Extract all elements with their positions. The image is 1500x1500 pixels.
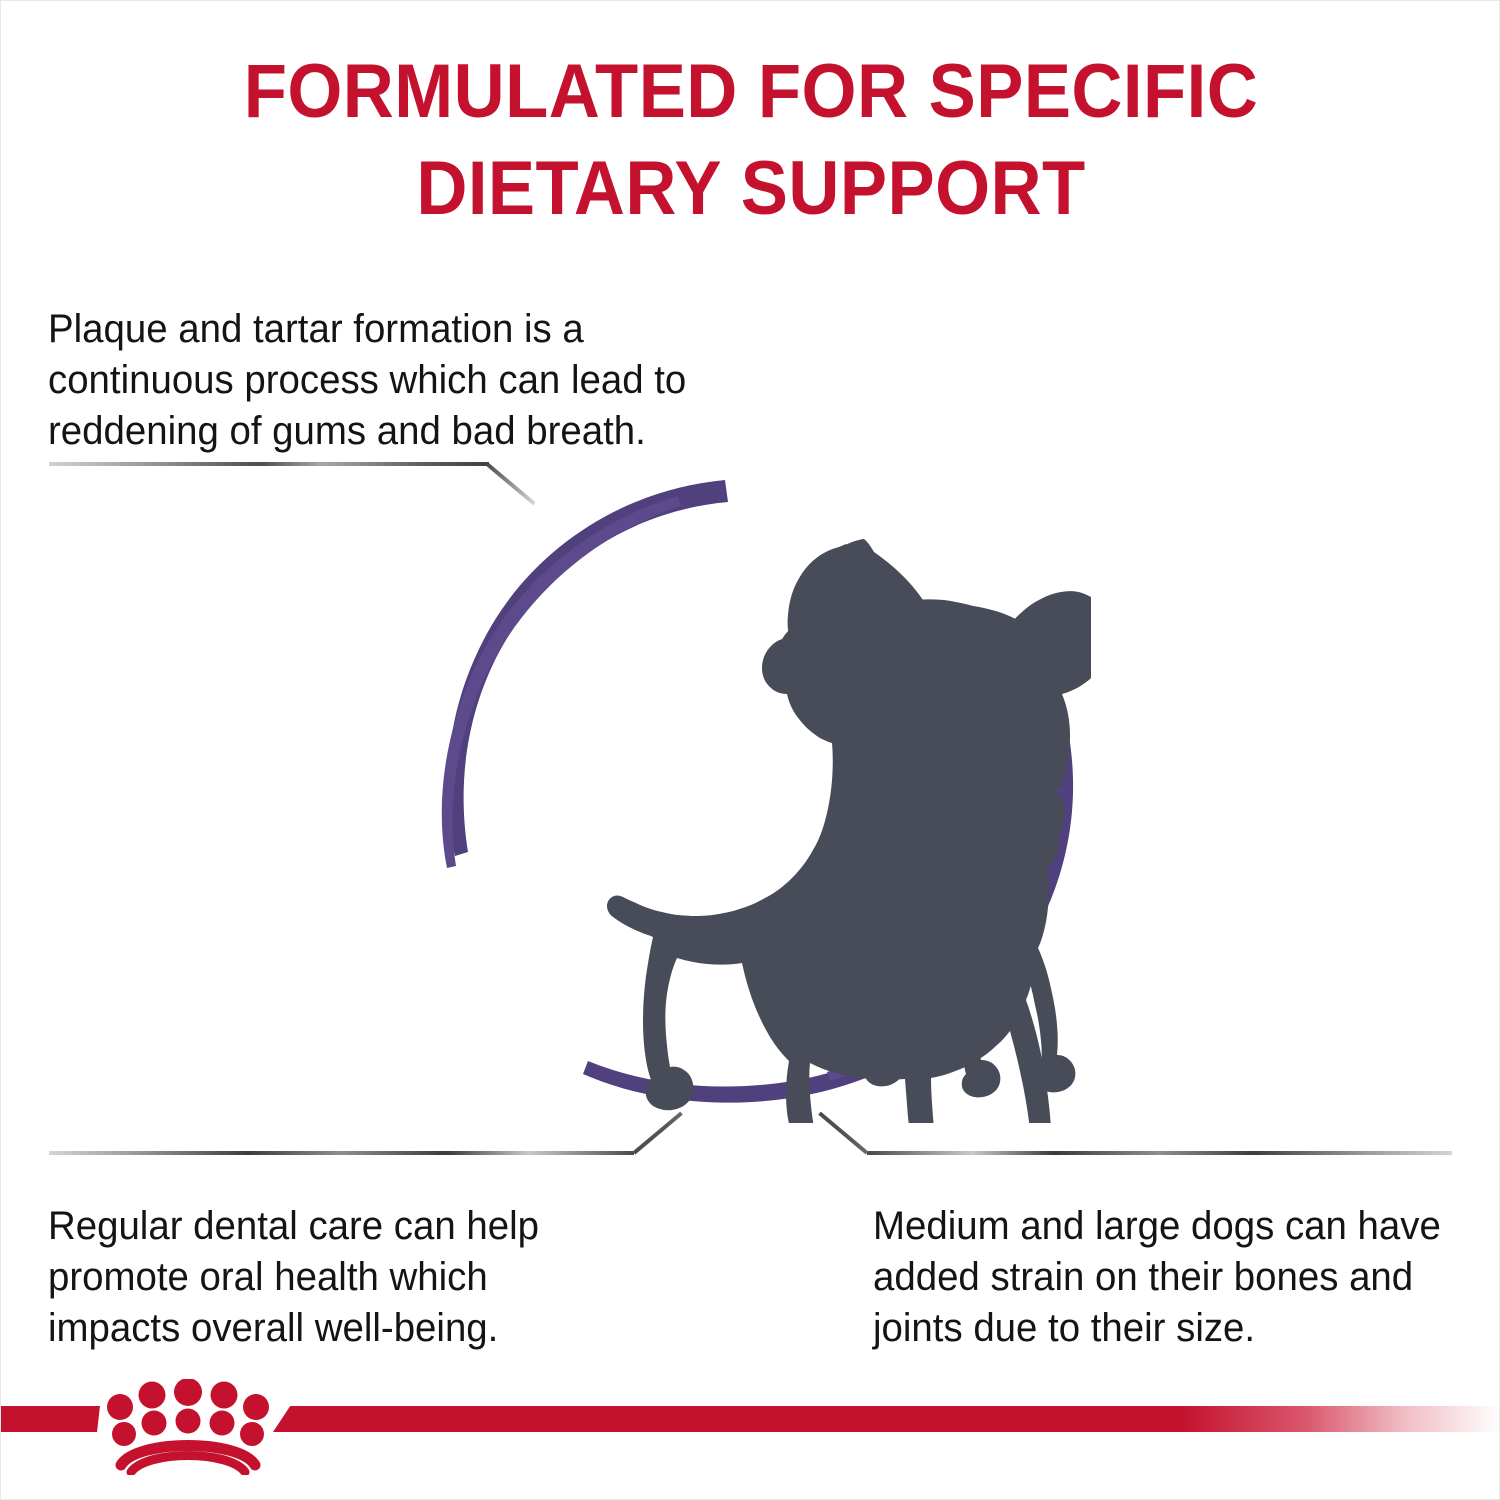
crown-dot (211, 1382, 238, 1409)
dog-silhouette-detail (607, 544, 1091, 1123)
crown-arc-inner (131, 1456, 245, 1473)
crown-dot (174, 1379, 202, 1406)
brand-bar-right-segment (273, 1406, 1500, 1432)
leader-line-bottom-left-horizontal (49, 1151, 634, 1155)
leader-line-bottom-right-horizontal (867, 1151, 1452, 1155)
callout-text-top-left: Plaque and tartar formation is a continu… (48, 304, 739, 458)
headline-line-2: DIETARY SUPPORT (54, 140, 1449, 237)
crown-dot (210, 1411, 235, 1436)
infographic-canvas: FORMULATED FOR SPECIFIC DIETARY SUPPORT … (0, 0, 1500, 1500)
crown-dot (240, 1422, 264, 1446)
crown-dot (243, 1394, 269, 1420)
callout-text-bottom-right: Medium and large dogs can have added str… (873, 1201, 1468, 1355)
callout-text-bottom-left: Regular dental care can help promote ora… (48, 1201, 624, 1355)
crown-dot (176, 1409, 201, 1434)
crown-dot (139, 1382, 166, 1409)
crown-dot (142, 1411, 167, 1436)
crown-dot (107, 1394, 133, 1420)
royal-canin-crown-logo (97, 1379, 279, 1475)
crown-dot (112, 1422, 136, 1446)
page-title: FORMULATED FOR SPECIFIC DIETARY SUPPORT (54, 43, 1449, 238)
dog-emblem (431, 463, 1091, 1123)
leader-line-top-left-horizontal (49, 462, 489, 466)
headline-line-1: FORMULATED FOR SPECIFIC (54, 43, 1449, 140)
brand-bar-left-segment (1, 1406, 100, 1432)
